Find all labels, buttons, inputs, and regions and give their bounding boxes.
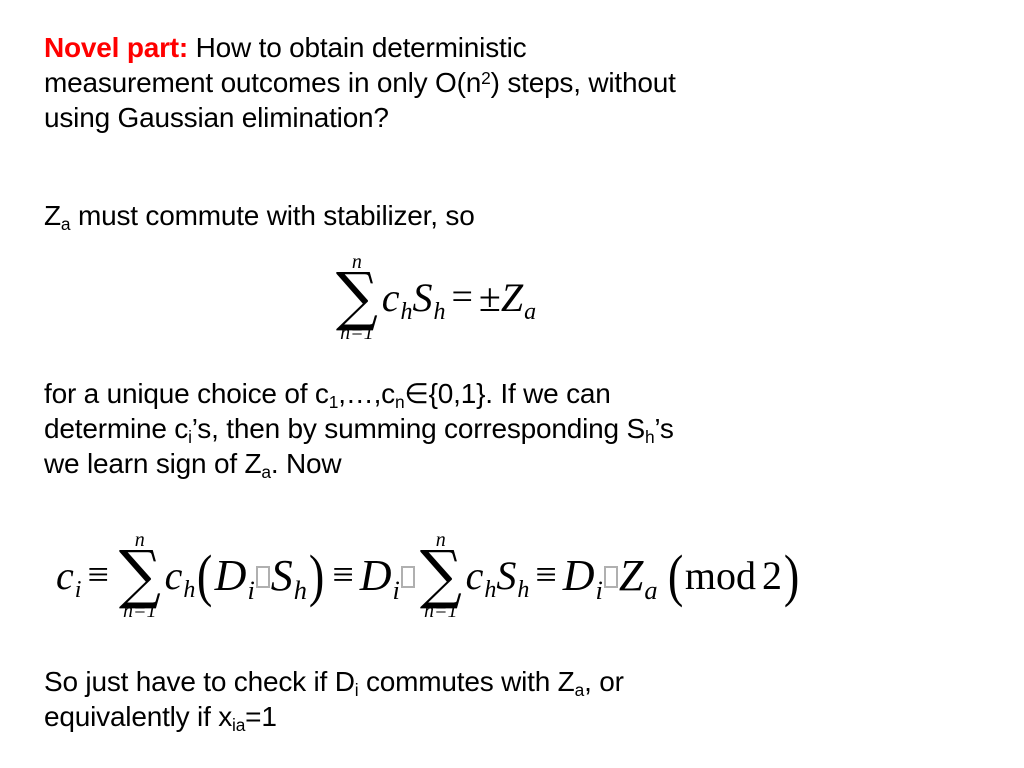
paragraph-unique-choice: for a unique choice of c1,…,cn∈{0,1}. If… — [44, 376, 674, 481]
eq2-summation-symbol-2: n ∑ h=1 — [418, 530, 464, 621]
missing-glyph-box-2 — [401, 566, 415, 588]
eq2-coefficient-c-2-base: c — [466, 553, 484, 598]
observable-Z: Za — [501, 274, 536, 321]
eq2-mod-value: 2 — [762, 552, 782, 599]
paragraph-novel-part: Novel part: How to obtain deterministic … — [44, 30, 676, 135]
determine-b: ’s, then by summing corresponding S — [192, 413, 645, 444]
paragraph-check-commutes-line-1: So just have to check if Di commutes wit… — [44, 664, 624, 699]
eq2-sigma2-glyph: ∑ — [420, 546, 462, 605]
eq2-destabilizer-D-1: Di — [215, 550, 255, 601]
eq2-equiv-1: ≡ — [81, 553, 114, 597]
eq2-sigma1-glyph: ∑ — [119, 546, 161, 605]
eq2-paren-close: ) — [309, 553, 324, 599]
determine-c: ’s — [654, 413, 673, 444]
observable-Z-base: Z — [501, 275, 523, 320]
eq2-coefficient-c-1-subscript: h — [183, 577, 195, 603]
stabilizer-S-subscript: h — [433, 299, 445, 325]
eq2-destabilizer-D-3-base: D — [563, 551, 595, 600]
eq2-stabilizer-S-2-base: S — [496, 553, 516, 598]
coefficient-c-base: c — [382, 275, 400, 320]
observable-Z-subscript: a — [524, 299, 536, 325]
eq2-coefficient-c-1: ch — [165, 552, 196, 599]
eq2-destabilizer-D-2: Di — [360, 550, 400, 601]
sigma-glyph: ∑ — [336, 268, 378, 327]
big-o-exponent: 2 — [481, 68, 490, 88]
eq2-coefficient-c-2: ch — [466, 552, 497, 599]
paragraph-novel-part-line-1: Novel part: How to obtain deterministic — [44, 30, 676, 65]
eq2-summation-symbol-1: n ∑ h=1 — [117, 530, 163, 621]
eq2-equiv-3: ≡ — [529, 553, 562, 597]
learn-sign-b: . Now — [271, 448, 342, 479]
unique-choice-a: for a unique choice of c — [44, 378, 329, 409]
check-commutes-c: , or — [584, 666, 624, 697]
slide-canvas: Novel part: How to obtain deterministic … — [0, 0, 1024, 768]
eq2-stabilizer-S-1-subscript: h — [294, 575, 307, 605]
summation-symbol: n ∑ h=1 — [334, 252, 380, 343]
eq2-destabilizer-D-1-subscript: i — [247, 575, 254, 605]
eq2-destabilizer-D-3-subscript: i — [596, 575, 603, 605]
eq2-mod-paren-open: ( — [668, 553, 683, 599]
learn-sign-a: we learn sign of Z — [44, 448, 261, 479]
stabilizer-S: Sh — [412, 274, 445, 321]
eq2-observable-Z-subscript: a — [644, 575, 657, 605]
eq2-stabilizer-S-1: Sh — [271, 550, 307, 601]
eq2-coefficient-c-2-subscript: h — [484, 577, 496, 603]
eq2-stabilizer-S-2-subscript: h — [517, 577, 529, 603]
check-commutes-b: commutes with Z — [358, 666, 574, 697]
eq2-lhs-c: ci — [56, 552, 81, 599]
novel-part-line1-rest: How to obtain deterministic — [188, 32, 526, 63]
eq2-mod-paren-close: ) — [784, 553, 799, 599]
novel-part-label: Novel part: — [44, 32, 188, 63]
c-one-subscript: 1 — [329, 392, 338, 412]
eq2-observable-Z-base: Z — [619, 551, 643, 600]
equals-sign: = — [445, 275, 478, 319]
novel-part-line2-b: ) steps, without — [491, 67, 676, 98]
eq2-destabilizer-D-2-subscript: i — [393, 575, 400, 605]
unique-choice-c: ∈{0,1}. If we can — [404, 378, 610, 409]
missing-glyph-box-3 — [604, 566, 618, 588]
z-a-subscript-2: a — [575, 680, 584, 700]
paragraph-check-commutes: So just have to check if Di commutes wit… — [44, 664, 624, 734]
plus-minus-sign: ± — [479, 274, 501, 321]
z-a-subscript: a — [261, 462, 270, 482]
z-operator: Z — [44, 200, 61, 231]
eq2-lhs-c-subscript: i — [75, 577, 82, 603]
eq2-observable-Z: Za — [619, 550, 658, 601]
stabilizer-S-base: S — [412, 275, 432, 320]
equation-stabilizer-sum: n ∑ h=1 ch Sh = ± Za — [332, 252, 536, 343]
paragraph-commute-line-1: Za must commute with stabilizer, so — [44, 198, 475, 233]
eq2-destabilizer-D-3: Di — [563, 550, 603, 601]
equation-ci-derivation: ci ≡ n ∑ h=1 ch ( Di Sh ) ≡ Di n ∑ h=1 c… — [56, 530, 801, 621]
check-commutes-a: So just have to check if D — [44, 666, 355, 697]
equivalently-a: equivalently if x — [44, 701, 232, 732]
s-h-subscript: h — [645, 427, 654, 447]
eq2-lhs-c-base: c — [56, 553, 74, 598]
paragraph-check-commutes-line-2: equivalently if xia=1 — [44, 699, 624, 734]
paragraph-unique-choice-line-2: determine ci’s, then by summing correspo… — [44, 411, 674, 446]
c-n-subscript: n — [395, 392, 404, 412]
paragraph-novel-part-line-3: using Gaussian elimination? — [44, 100, 676, 135]
novel-part-line2-a: measurement outcomes in only O(n — [44, 67, 481, 98]
z-operator-subscript: a — [61, 214, 70, 234]
eq2-stabilizer-S-1-base: S — [271, 551, 293, 600]
paragraph-commute-rest: must commute with stabilizer, so — [70, 200, 474, 231]
c-i-subscript: i — [188, 427, 192, 447]
coefficient-c: ch — [382, 274, 413, 321]
eq2-destabilizer-D-2-base: D — [360, 551, 392, 600]
paragraph-unique-choice-line-3: we learn sign of Za. Now — [44, 446, 674, 481]
determine-a: determine c — [44, 413, 188, 444]
eq2-coefficient-c-1-base: c — [165, 553, 183, 598]
paragraph-novel-part-line-2: measurement outcomes in only O(n2) steps… — [44, 65, 676, 100]
paragraph-unique-choice-line-1: for a unique choice of c1,…,cn∈{0,1}. If… — [44, 376, 674, 411]
eq2-paren-open: ( — [197, 553, 212, 599]
eq2-stabilizer-S-2: Sh — [496, 552, 529, 599]
eq2-mod-keyword: mod — [685, 552, 756, 599]
equivalently-b: =1 — [245, 701, 277, 732]
unique-choice-b: ,…,c — [338, 378, 395, 409]
d-i-subscript: i — [355, 680, 359, 700]
paragraph-commute: Za must commute with stabilizer, so — [44, 198, 475, 233]
missing-glyph-box-1 — [256, 566, 270, 588]
x-ia-subscript: ia — [232, 715, 245, 735]
eq2-destabilizer-D-1-base: D — [215, 551, 247, 600]
coefficient-c-subscript: h — [400, 299, 412, 325]
eq2-equiv-2: ≡ — [326, 553, 359, 597]
